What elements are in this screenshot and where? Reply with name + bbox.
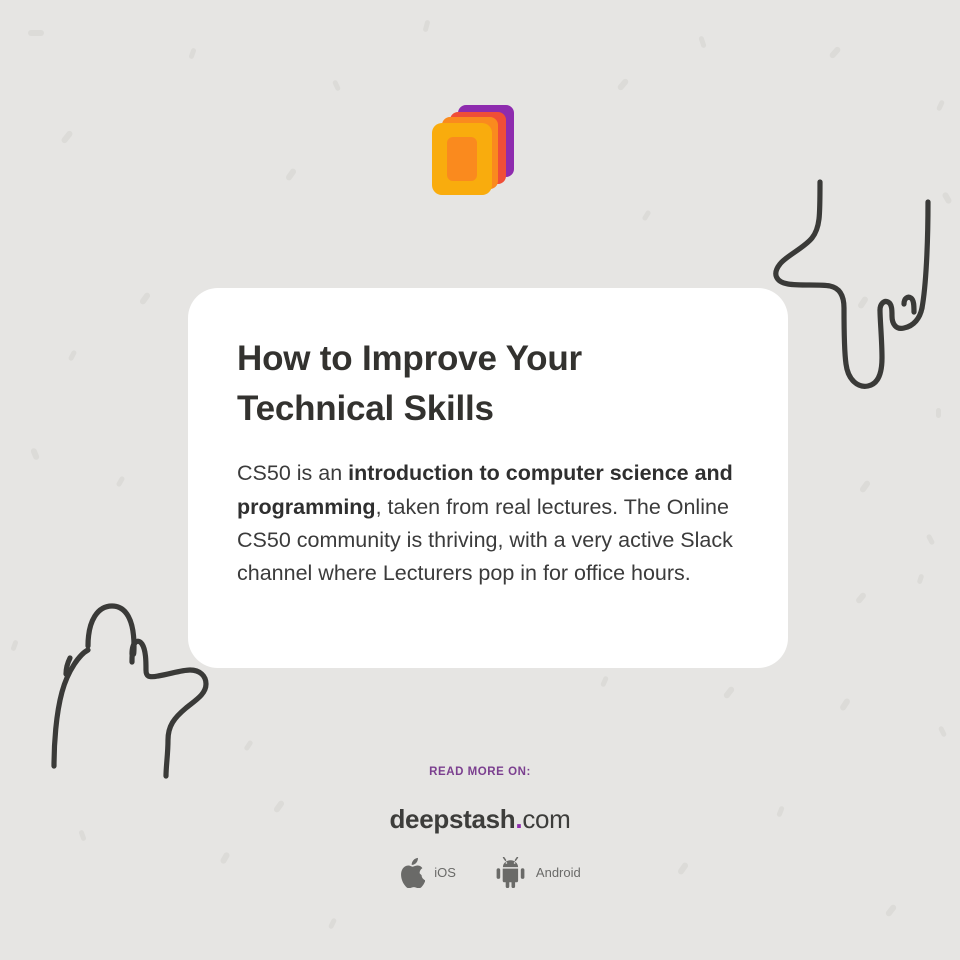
confetti-speck	[617, 78, 630, 92]
apple-icon	[399, 857, 425, 888]
footer: READ MORE ON: deepstash.com iOS	[0, 766, 960, 888]
confetti-speck	[839, 697, 851, 711]
confetti-speck	[28, 30, 44, 36]
platform-android[interactable]: Android	[494, 857, 581, 888]
confetti-speck	[641, 210, 651, 222]
confetti-speck	[917, 573, 925, 584]
confetti-speck	[10, 639, 18, 651]
quote-card: How to Improve Your Technical Skills CS5…	[188, 288, 788, 668]
site-name-tld: com	[522, 804, 570, 834]
card-body: CS50 is an introduction to computer scie…	[237, 457, 738, 590]
platform-label-android: Android	[536, 865, 581, 880]
site-name[interactable]: deepstash.com	[0, 804, 960, 835]
confetti-speck	[139, 291, 151, 305]
platform-row: iOS Android	[0, 857, 960, 888]
confetti-speck	[60, 130, 73, 145]
confetti-speck	[857, 295, 869, 309]
android-icon	[494, 857, 527, 888]
confetti-speck	[30, 447, 40, 460]
confetti-speck	[243, 740, 253, 752]
platform-label-ios: iOS	[434, 865, 456, 880]
confetti-speck	[116, 475, 126, 487]
confetti-speck	[926, 533, 936, 545]
confetti-speck	[936, 408, 941, 418]
platform-ios[interactable]: iOS	[399, 857, 456, 888]
confetti-speck	[423, 20, 431, 33]
confetti-speck	[938, 725, 947, 737]
confetti-speck	[936, 99, 945, 111]
confetti-speck	[698, 36, 706, 49]
confetti-speck	[941, 191, 952, 204]
confetti-speck	[600, 675, 609, 687]
site-name-brand: deepstash	[389, 804, 515, 834]
deepstash-logo-icon	[430, 103, 516, 199]
confetti-speck	[828, 46, 841, 60]
confetti-speck	[68, 349, 78, 361]
confetti-speck	[723, 686, 736, 700]
confetti-speck	[188, 47, 196, 59]
confetti-speck	[328, 917, 337, 929]
confetti-speck	[332, 79, 341, 91]
confetti-speck	[855, 591, 867, 604]
card-body-run-0: CS50 is an	[237, 461, 348, 485]
confetti-speck	[285, 167, 297, 181]
pointing-hand-top-right-icon	[762, 168, 960, 400]
read-more-label: READ MORE ON:	[0, 766, 960, 778]
confetti-speck	[859, 479, 871, 493]
confetti-speck	[885, 904, 898, 918]
card-title: How to Improve Your Technical Skills	[237, 334, 738, 433]
